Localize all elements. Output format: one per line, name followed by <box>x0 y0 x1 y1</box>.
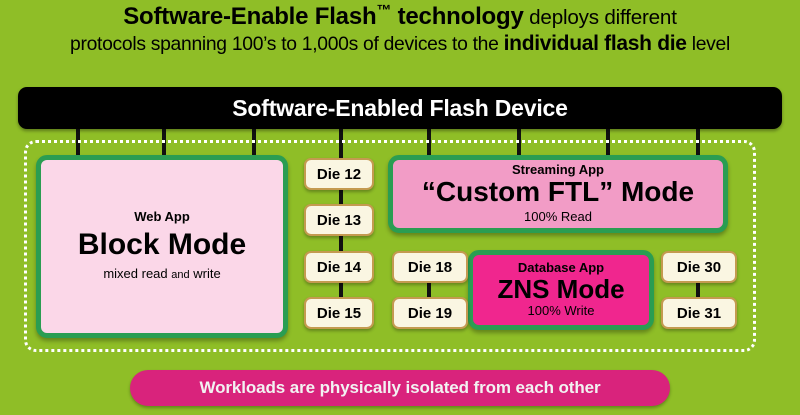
die-chip-31[interactable]: Die 31 <box>661 297 737 329</box>
block-mode-subtitle-a: mixed read <box>103 266 171 281</box>
trademark-symbol: ™ <box>376 3 391 19</box>
device-bar-title: Software-Enabled Flash Device <box>232 95 567 122</box>
card-block-mode[interactable]: Web App Block Mode mixed read and write <box>36 155 288 338</box>
software-enabled-flash-device-bar: Software-Enabled Flash Device <box>18 87 782 129</box>
headline-line-1-light: deploys different <box>524 6 677 29</box>
headline-line-2-lead: protocols spanning 100’s to 1,000s of de… <box>70 34 504 55</box>
die-chip-18[interactable]: Die 18 <box>392 251 468 283</box>
die-chip-19-label: Die 19 <box>408 305 452 322</box>
block-mode-subtitle-and: and <box>171 269 189 281</box>
die-chip-30[interactable]: Die 30 <box>661 251 737 283</box>
die-chip-14-label: Die 14 <box>317 259 361 276</box>
die-chip-12-label: Die 12 <box>317 166 361 183</box>
headline-line-2-tail: level <box>687 34 730 55</box>
headline-line-1: Software-Enable Flash™ technology deploy… <box>0 2 800 31</box>
die-stub-a2 <box>339 234 343 252</box>
die-chip-30-label: Die 30 <box>677 259 721 276</box>
headline-line-2-emphasis: individual flash die <box>504 32 687 55</box>
die-chip-13[interactable]: Die 13 <box>304 204 374 236</box>
block-mode-app-label: Web App <box>134 210 190 225</box>
die-chip-31-label: Die 31 <box>677 305 721 322</box>
card-custom-ftl-mode[interactable]: Streaming App “Custom FTL” Mode 100% Rea… <box>388 155 728 233</box>
block-mode-subtitle-b: write <box>190 266 221 281</box>
ftl-mode-subtitle: 100% Read <box>524 209 592 225</box>
block-mode-subtitle: mixed read and write <box>103 266 220 282</box>
headline-technology-word: technology <box>391 3 523 30</box>
ftl-mode-title: “Custom FTL” Mode <box>422 177 694 208</box>
zns-mode-subtitle: 100% Write <box>528 303 595 319</box>
isolation-banner: Workloads are physically isolated from e… <box>130 370 670 406</box>
card-zns-mode[interactable]: Database App ZNS Mode 100% Write <box>468 250 654 330</box>
die-chip-14[interactable]: Die 14 <box>304 251 374 283</box>
die-chip-15[interactable]: Die 15 <box>304 297 374 329</box>
block-mode-title: Block Mode <box>78 228 246 261</box>
zns-mode-title: ZNS Mode <box>497 275 624 304</box>
slide-canvas: Software-Enable Flash™ technology deploy… <box>0 0 800 415</box>
isolation-banner-text: Workloads are physically isolated from e… <box>199 378 600 398</box>
headline: Software-Enable Flash™ technology deploy… <box>0 2 800 57</box>
die-chip-15-label: Die 15 <box>317 305 361 322</box>
headline-line-2: protocols spanning 100’s to 1,000s of de… <box>0 31 800 57</box>
die-chip-13-label: Die 13 <box>317 212 361 229</box>
die-chip-19[interactable]: Die 19 <box>392 297 468 329</box>
die-chip-12[interactable]: Die 12 <box>304 158 374 190</box>
die-chip-18-label: Die 18 <box>408 259 452 276</box>
headline-product-name: Software-Enable Flash <box>123 3 376 30</box>
